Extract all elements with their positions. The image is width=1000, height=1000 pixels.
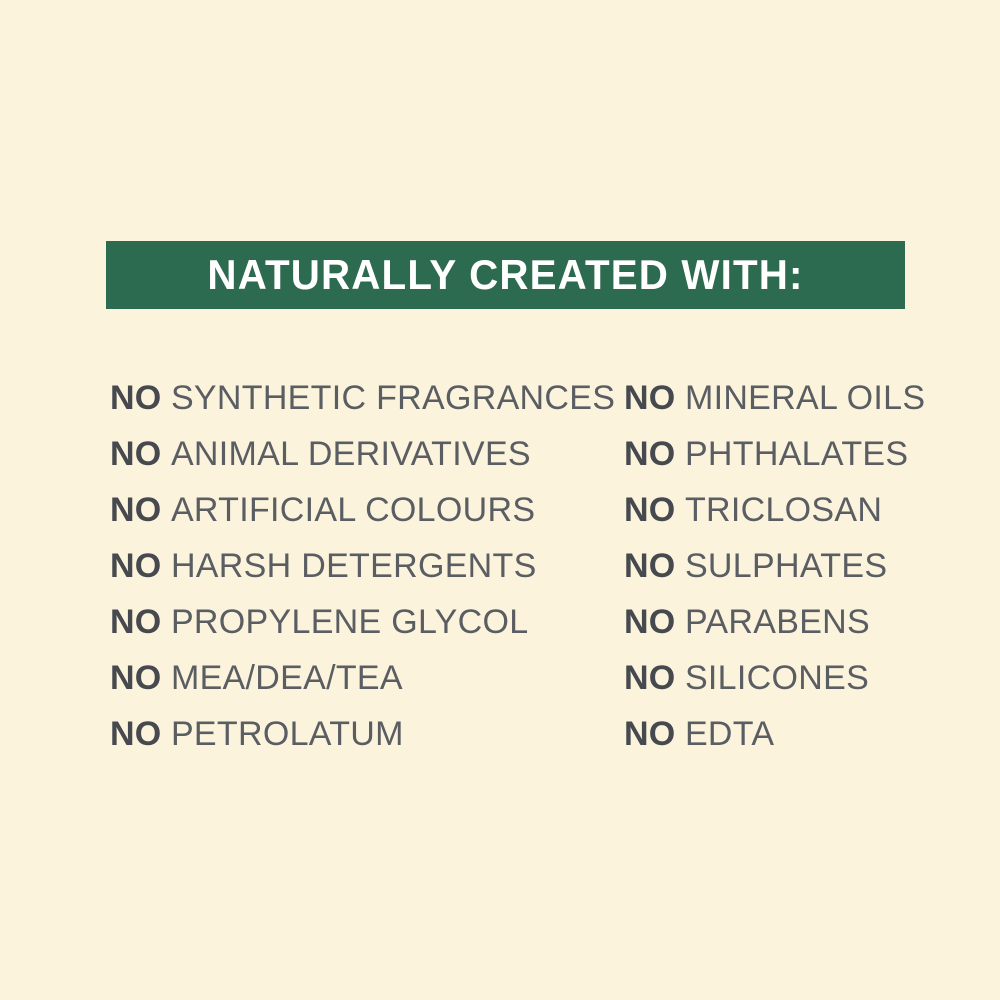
no-prefix: NO (110, 547, 161, 585)
list-item-label: HARSH DETERGENTS (171, 547, 537, 585)
no-prefix: NO (624, 659, 675, 697)
no-prefix: NO (624, 715, 675, 753)
list-item-label: SYNTHETIC FRAGRANCES (171, 379, 615, 417)
list-item-label: PROPYLENE GLYCOL (171, 603, 529, 641)
list-item: NO EDTA (624, 706, 925, 762)
no-prefix: NO (110, 491, 161, 529)
list-item: NO MINERAL OILS (624, 370, 925, 426)
list-item: NO SYNTHETIC FRAGRANCES (110, 370, 615, 426)
list-item: NO PHTHALATES (624, 426, 925, 482)
list-item-label: SILICONES (685, 659, 869, 697)
no-prefix: NO (624, 379, 675, 417)
exclusion-list-left-column: NO SYNTHETIC FRAGRANCES NO ANIMAL DERIVA… (110, 370, 615, 762)
list-item: NO HARSH DETERGENTS (110, 538, 615, 594)
no-prefix: NO (110, 659, 161, 697)
list-item: NO PARABENS (624, 594, 925, 650)
no-prefix: NO (624, 491, 675, 529)
no-prefix: NO (110, 715, 161, 753)
page-title: NATURALLY CREATED WITH: (207, 254, 803, 296)
list-item: NO SILICONES (624, 650, 925, 706)
list-item: NO MEA/DEA/TEA (110, 650, 615, 706)
list-item-label: EDTA (685, 715, 774, 753)
list-item-label: MEA/DEA/TEA (171, 659, 403, 697)
list-item: NO SULPHATES (624, 538, 925, 594)
no-prefix: NO (624, 435, 675, 473)
list-item: NO PETROLATUM (110, 706, 615, 762)
exclusion-list-right-column: NO MINERAL OILS NO PHTHALATES NO TRICLOS… (624, 370, 925, 762)
list-item-label: MINERAL OILS (685, 379, 925, 417)
no-prefix: NO (110, 379, 161, 417)
banner: NATURALLY CREATED WITH: (106, 241, 905, 309)
list-item-label: ARTIFICIAL COLOURS (171, 491, 535, 529)
poster-canvas: NATURALLY CREATED WITH: NO SYNTHETIC FRA… (0, 0, 1000, 1000)
list-item: NO PROPYLENE GLYCOL (110, 594, 615, 650)
exclusion-list: NO SYNTHETIC FRAGRANCES NO ANIMAL DERIVA… (106, 370, 926, 770)
list-item-label: ANIMAL DERIVATIVES (171, 435, 531, 473)
no-prefix: NO (110, 435, 161, 473)
no-prefix: NO (110, 603, 161, 641)
list-item-label: SULPHATES (685, 547, 887, 585)
list-item: NO ARTIFICIAL COLOURS (110, 482, 615, 538)
list-item-label: TRICLOSAN (685, 491, 882, 529)
list-item-label: PARABENS (685, 603, 870, 641)
list-item: NO TRICLOSAN (624, 482, 925, 538)
no-prefix: NO (624, 603, 675, 641)
list-item: NO ANIMAL DERIVATIVES (110, 426, 615, 482)
list-item-label: PETROLATUM (171, 715, 404, 753)
no-prefix: NO (624, 547, 675, 585)
list-item-label: PHTHALATES (685, 435, 908, 473)
